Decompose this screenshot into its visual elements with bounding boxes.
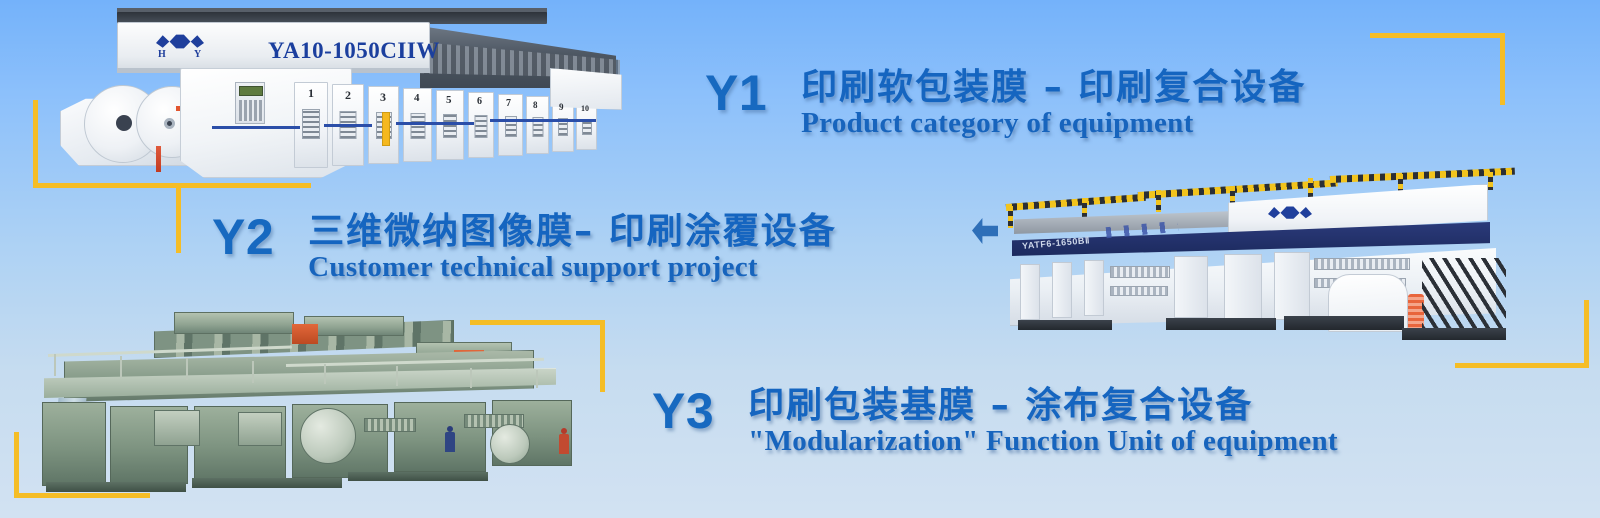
- frame-stand: [1084, 260, 1104, 316]
- bracket-top-left-vertical: [33, 100, 38, 188]
- unit-controls: [443, 114, 457, 138]
- frame-stand: [1020, 264, 1040, 320]
- coater-section: [42, 402, 106, 486]
- frame-stand: [1224, 254, 1262, 320]
- unit-controls: [475, 115, 488, 138]
- press-model-label: YA10-1050CIIW: [268, 38, 440, 64]
- machine-image-paper-coating-line: [24, 306, 592, 502]
- unit-number: 1: [308, 86, 314, 101]
- machine-image-gravure-press: H Y YA10-1050CIIW 1: [60, 8, 620, 180]
- bracket-bottom-left-vertical: [14, 432, 19, 498]
- guide-roller: [1314, 258, 1410, 270]
- unit-number: 10: [581, 104, 589, 113]
- machine-base: [1018, 320, 1112, 330]
- figure-body: [559, 434, 569, 454]
- unit-number: 9: [559, 102, 564, 112]
- unit-number: 4: [414, 92, 420, 104]
- frame-stand: [1174, 256, 1208, 318]
- bracket-bottom-right-vertical: [1584, 300, 1589, 368]
- machine-image-coating-laminator: YATF6-1650BⅡ: [978, 162, 1518, 362]
- bracket-bottom-right-horizontal: [1455, 363, 1589, 368]
- upper-hood: [304, 316, 404, 336]
- bracket-top-right-vertical: [1500, 33, 1505, 105]
- rail-post: [1488, 172, 1493, 190]
- guide-roller: [1110, 286, 1168, 296]
- entry-code-y3: Y3: [652, 386, 714, 437]
- entry-code-y1: Y1: [705, 68, 767, 119]
- bird-logo-icon: [156, 34, 204, 49]
- bracket-top-right-horizontal: [1370, 33, 1505, 38]
- figure-body: [445, 432, 455, 452]
- bracket-mid-left-vertical: [176, 183, 181, 253]
- left-arrow-logo-icon: [972, 218, 998, 244]
- unit-number: 7: [506, 98, 511, 109]
- railing-post: [324, 364, 326, 384]
- unit-number: 5: [446, 94, 452, 106]
- unit-controls: [302, 109, 320, 139]
- category-entry-y2: Y2 三维微纳图像膜– 印刷涂覆设备 Customer technical su…: [212, 212, 837, 283]
- operator-figure: [444, 426, 456, 454]
- coater-section: [394, 402, 486, 472]
- press-web-path-2: [324, 124, 372, 127]
- control-keypad: [239, 100, 263, 121]
- railing-post: [470, 368, 472, 388]
- unit-controls: [410, 113, 425, 139]
- entry-subtitle-english-y2: Customer technical support project: [308, 252, 837, 282]
- press-reel-hub-2: [164, 118, 175, 129]
- brand-letter-h: H: [158, 49, 166, 60]
- control-screen: [239, 86, 263, 96]
- machine-base: [192, 478, 342, 488]
- entry-title-chinese-y3: 印刷包装基膜 – 涂布复合设备: [748, 386, 1338, 426]
- frame-stand: [1274, 252, 1310, 320]
- hy-brand-logo: H Y: [156, 34, 204, 60]
- rail-post: [1308, 178, 1313, 198]
- bracket-mid-left-horizontal: [176, 183, 311, 188]
- machine-base: [348, 472, 488, 481]
- equipment-category-banner: H Y YA10-1050CIIW 1: [0, 0, 1600, 518]
- entry-title-chinese-y1: 印刷软包装膜 – 印刷复合设备: [801, 68, 1306, 108]
- bird-logo-icon: [1268, 206, 1312, 219]
- press-web-path-1: [212, 126, 300, 129]
- bracket-mid-center-vertical: [600, 320, 605, 392]
- entry-subtitle-english-y3: "Modularization" Function Unit of equipm…: [748, 426, 1338, 456]
- unit-yellow-indicator: [382, 112, 390, 146]
- machine-base: [1284, 316, 1404, 330]
- safety-rail-left: [1006, 194, 1146, 211]
- railing-post: [54, 354, 56, 376]
- rail-post: [1156, 190, 1161, 212]
- guide-roller: [1110, 266, 1170, 278]
- railing-post: [536, 370, 538, 388]
- rail-post: [1008, 206, 1013, 228]
- railing-post: [252, 361, 254, 383]
- machine-base: [46, 482, 186, 492]
- press-red-strip: [156, 146, 161, 172]
- access-stairs: [1422, 258, 1506, 330]
- unit-number: 8: [533, 100, 538, 110]
- press-web-path-4: [490, 119, 596, 122]
- machine-base: [1402, 328, 1506, 340]
- machine-base: [1166, 318, 1276, 330]
- unit-number: 2: [345, 88, 351, 103]
- frame-stand: [1052, 262, 1072, 318]
- railing-post: [120, 356, 122, 378]
- press-control-panel: [235, 82, 265, 124]
- coating-hopper: [154, 410, 200, 446]
- operator-figure: [558, 428, 570, 454]
- orange-machine-part: [292, 324, 318, 344]
- press-web-path-3: [396, 122, 474, 125]
- category-entry-y3: Y3 印刷包装基膜 – 涂布复合设备 "Modularization" Func…: [652, 386, 1338, 457]
- upper-hood: [174, 312, 294, 334]
- coating-hopper: [238, 412, 282, 446]
- brand-letter-y: Y: [194, 49, 201, 60]
- entry-title-chinese-y2: 三维微纳图像膜– 印刷涂覆设备: [308, 212, 837, 252]
- reel-drum: [490, 424, 530, 464]
- unit-number: 6: [477, 96, 482, 107]
- railing-post: [396, 366, 398, 386]
- entry-code-y2: Y2: [212, 212, 274, 263]
- rail-post: [1398, 174, 1403, 192]
- railing-post: [186, 358, 188, 380]
- category-entry-y1: Y1 印刷软包装膜 – 印刷复合设备 Product category of e…: [705, 68, 1306, 139]
- nip-roller: [364, 418, 416, 432]
- coating-drum: [300, 408, 356, 464]
- press-reel-hub-1: [116, 115, 132, 131]
- unit-number: 3: [380, 90, 386, 105]
- entry-subtitle-english-y1: Product category of equipment: [801, 108, 1306, 138]
